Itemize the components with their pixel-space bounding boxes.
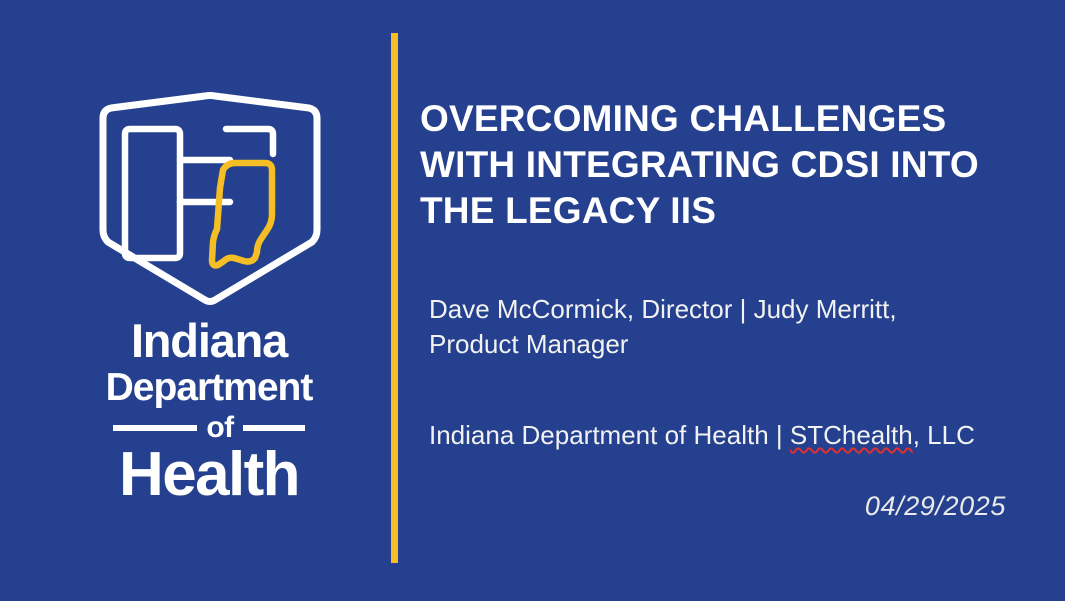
shield-with-h-and-indiana-outline-icon (97, 92, 323, 307)
slide-title: OVERCOMING CHALLENGES WITH INTEGRATING C… (420, 96, 1020, 234)
indiana-department-of-health-logo: Indiana Department of Health (78, 92, 340, 500)
wordmark-line-of: of (206, 413, 233, 443)
affiliation-misspelled-word: STChealth (790, 420, 913, 450)
slide-date: 04/29/2025 (420, 491, 1006, 522)
affiliation-line: Indiana Department of Health | STChealth… (429, 419, 1029, 453)
wordmark-rule-left (113, 425, 197, 431)
logo-wordmark: Indiana Department of Health (78, 317, 340, 506)
wordmark-of-row: of (78, 413, 340, 443)
affiliation-prefix: Indiana Department of Health | (429, 420, 790, 450)
title-slide: Indiana Department of Health OVERCOMING … (0, 0, 1065, 601)
wordmark-line-health: Health (78, 444, 340, 506)
wordmark-line-indiana: Indiana (78, 317, 340, 364)
vertical-accent-divider (391, 33, 398, 563)
affiliation-suffix: , LLC (913, 420, 975, 450)
wordmark-line-department: Department (78, 368, 340, 407)
wordmark-rule-right (243, 425, 305, 431)
slide-content-column: OVERCOMING CHALLENGES WITH INTEGRATING C… (420, 0, 1020, 601)
presenter-names: Dave McCormick, Director | Judy Merritt,… (429, 292, 989, 361)
